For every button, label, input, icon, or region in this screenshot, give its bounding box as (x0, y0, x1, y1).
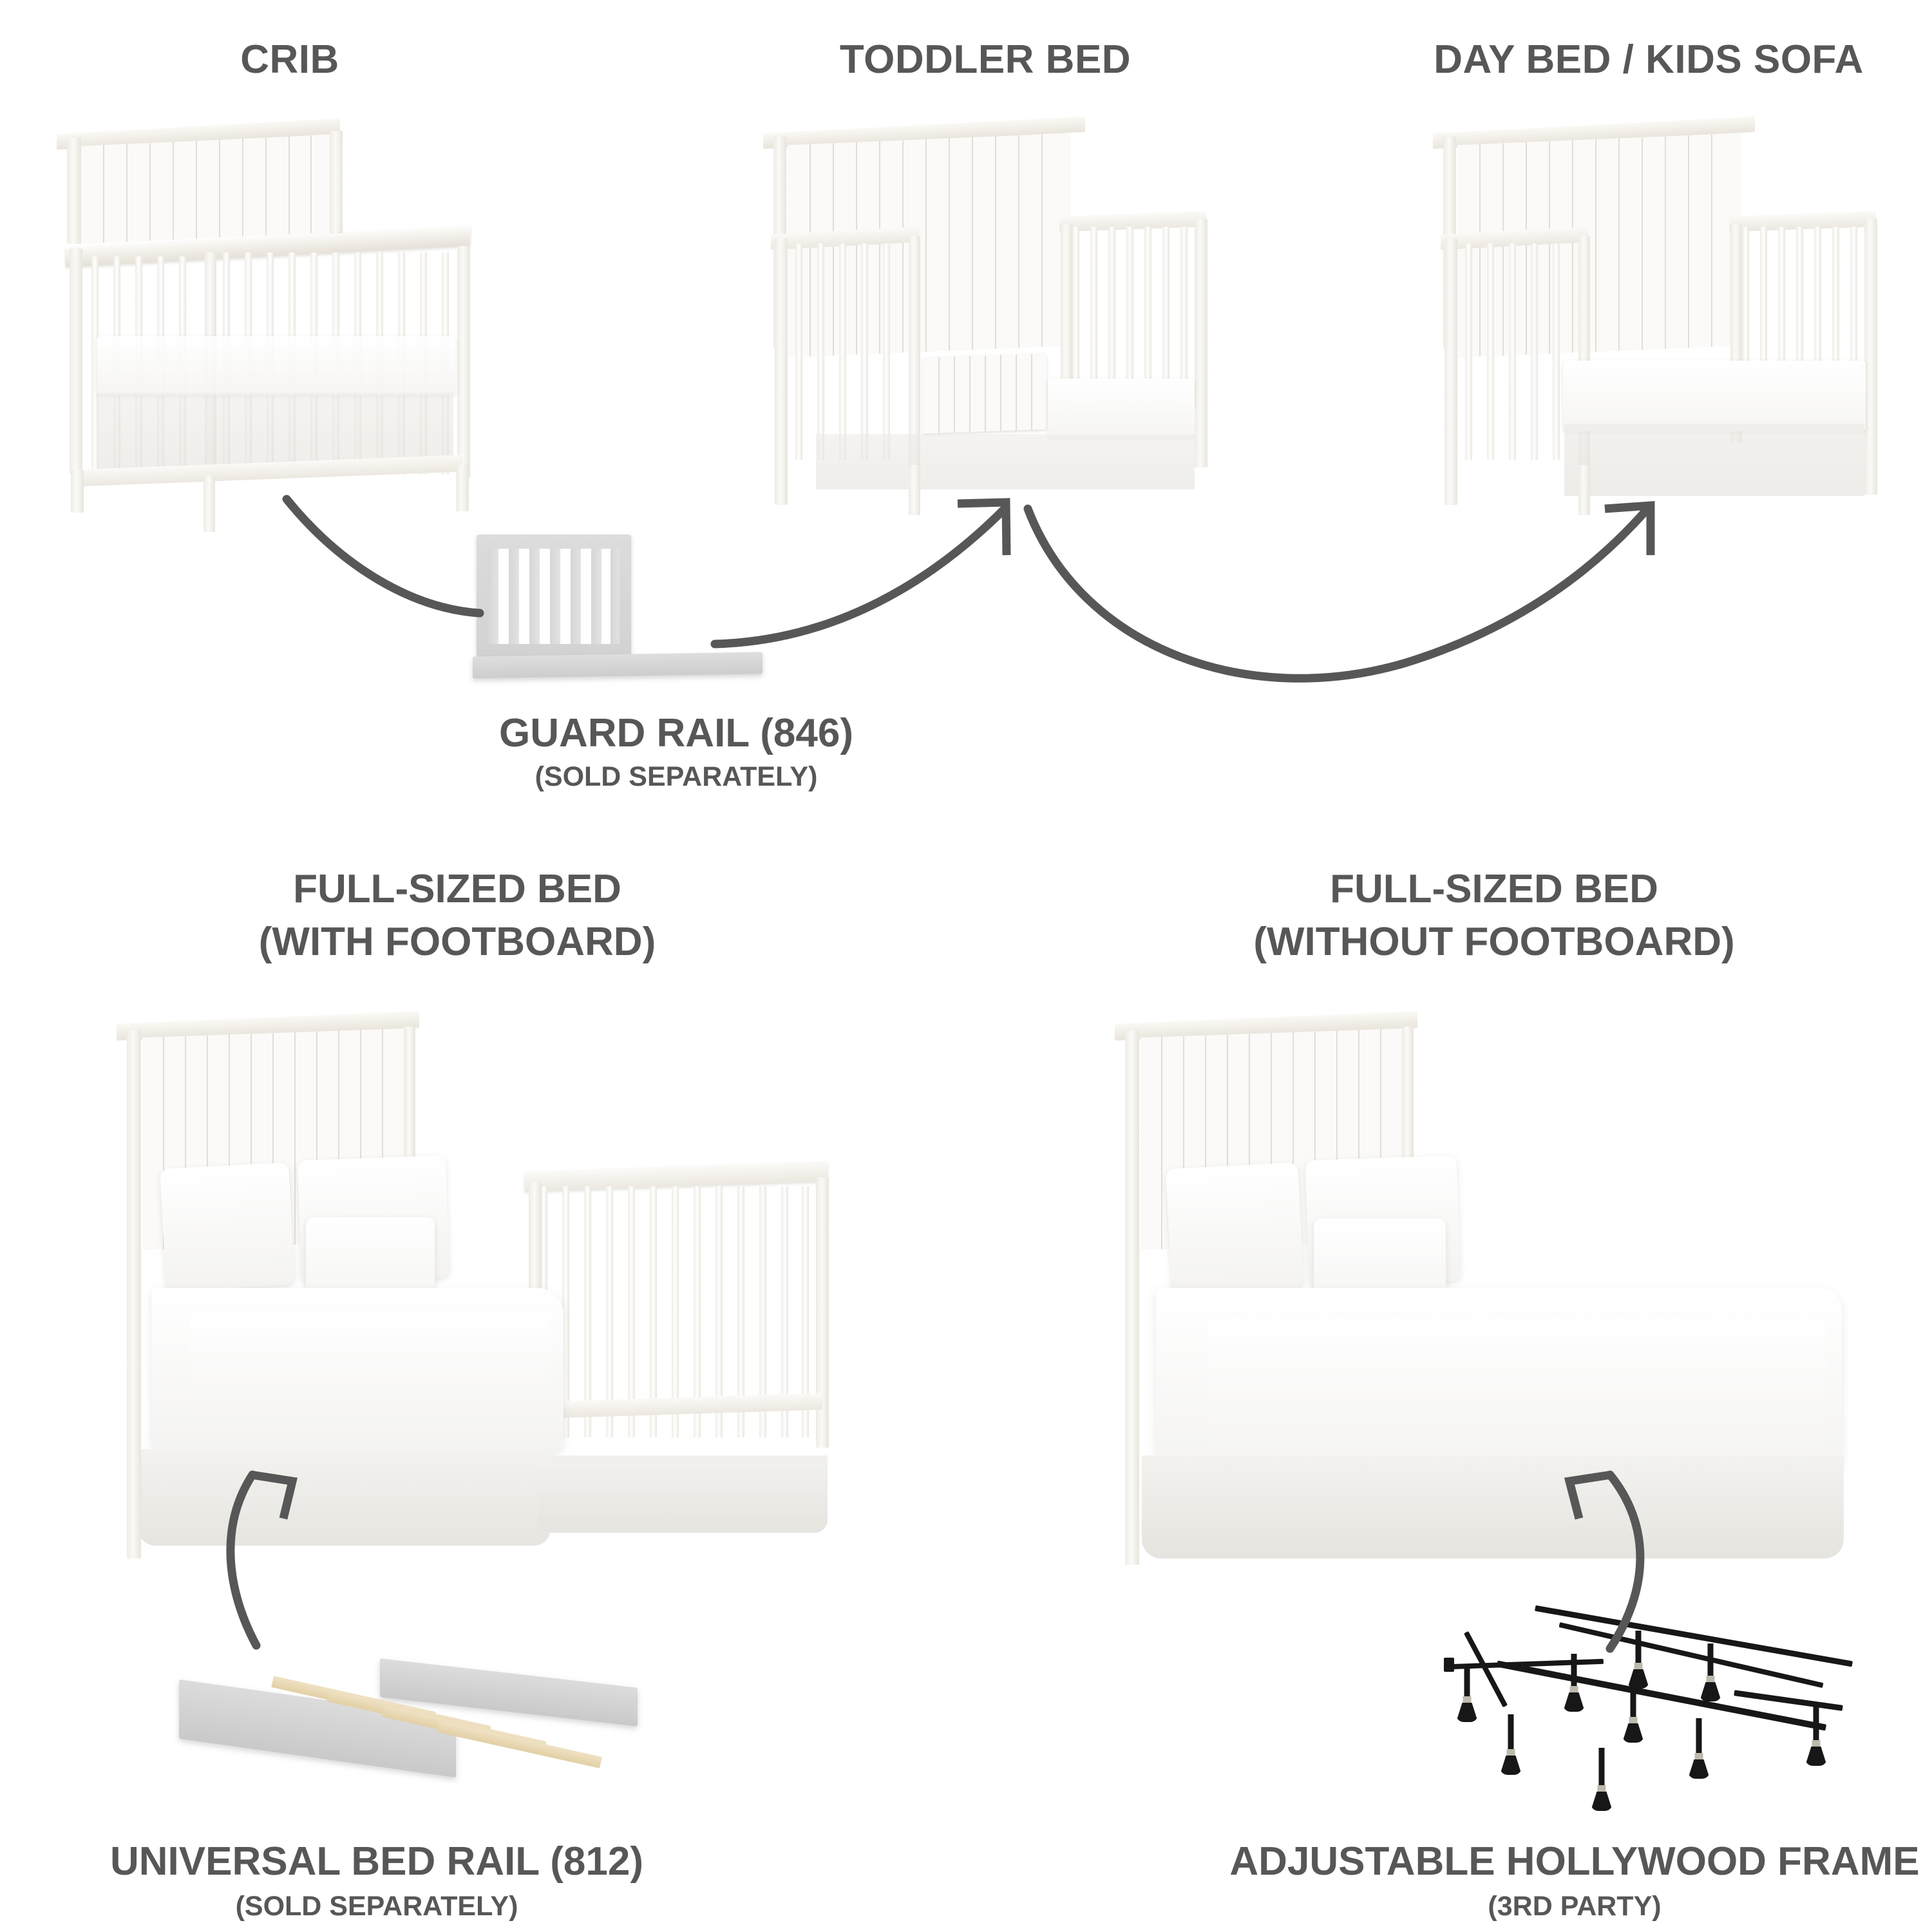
arrowhead-daybed (1605, 506, 1651, 555)
crib-title: CRIB (0, 35, 580, 84)
full-bed-without-footboard-line1: FULL-SIZED BED (1121, 863, 1868, 916)
hollywood-frame-label: ADJUSTABLE HOLLYWOOD FRAME (1217, 1837, 1932, 1887)
guard-rail-illustration (470, 528, 921, 696)
conversion-diagram: CRIB TODDLER BED DAY BED / KIDS SOFA (0, 0, 1932, 1932)
full-bed-with-footboard-line1: FULL-SIZED BED (116, 863, 799, 916)
crib-illustration (52, 109, 528, 483)
day-bed-illustration (1426, 109, 1916, 483)
day-bed-title: DAY BED / KIDS SOFA (1359, 35, 1932, 84)
full-bed-with-footboard-line2: (WITH FOOTBOARD) (116, 916, 799, 969)
full-bed-without-footboard-title: FULL-SIZED BED (WITHOUT FOOTBOARD) (1121, 863, 1868, 969)
arrow-crib-to-guardrail (287, 499, 480, 613)
toddler-bed-illustration (757, 109, 1246, 483)
universal-bed-rail-note: (SOLD SEPARATELY) (19, 1891, 734, 1922)
toddler-bed-title: TODDLER BED (696, 35, 1275, 84)
guard-rail-note: (SOLD SEPARATELY) (341, 761, 1011, 793)
universal-bed-rail-label: UNIVERSAL BED RAIL (812) (19, 1837, 734, 1887)
arrow-toddler-to-daybed (1028, 507, 1649, 678)
full-bed-without-footboard-illustration (1111, 1005, 1884, 1443)
full-bed-with-footboard-title: FULL-SIZED BED (WITH FOOTBOARD) (116, 863, 799, 969)
guard-rail-label: GUARD RAIL (846) (341, 708, 1011, 759)
full-bed-without-footboard-line2: (WITHOUT FOOTBOARD) (1121, 916, 1868, 969)
hollywood-frame-note: (3RD PARTY) (1217, 1891, 1932, 1922)
hollywood-frame-illustration (1404, 1636, 1893, 1829)
full-bed-with-footboard-illustration (113, 1005, 885, 1443)
arrowhead-toddler (958, 502, 1007, 555)
universal-bed-rail-illustration (161, 1668, 676, 1829)
